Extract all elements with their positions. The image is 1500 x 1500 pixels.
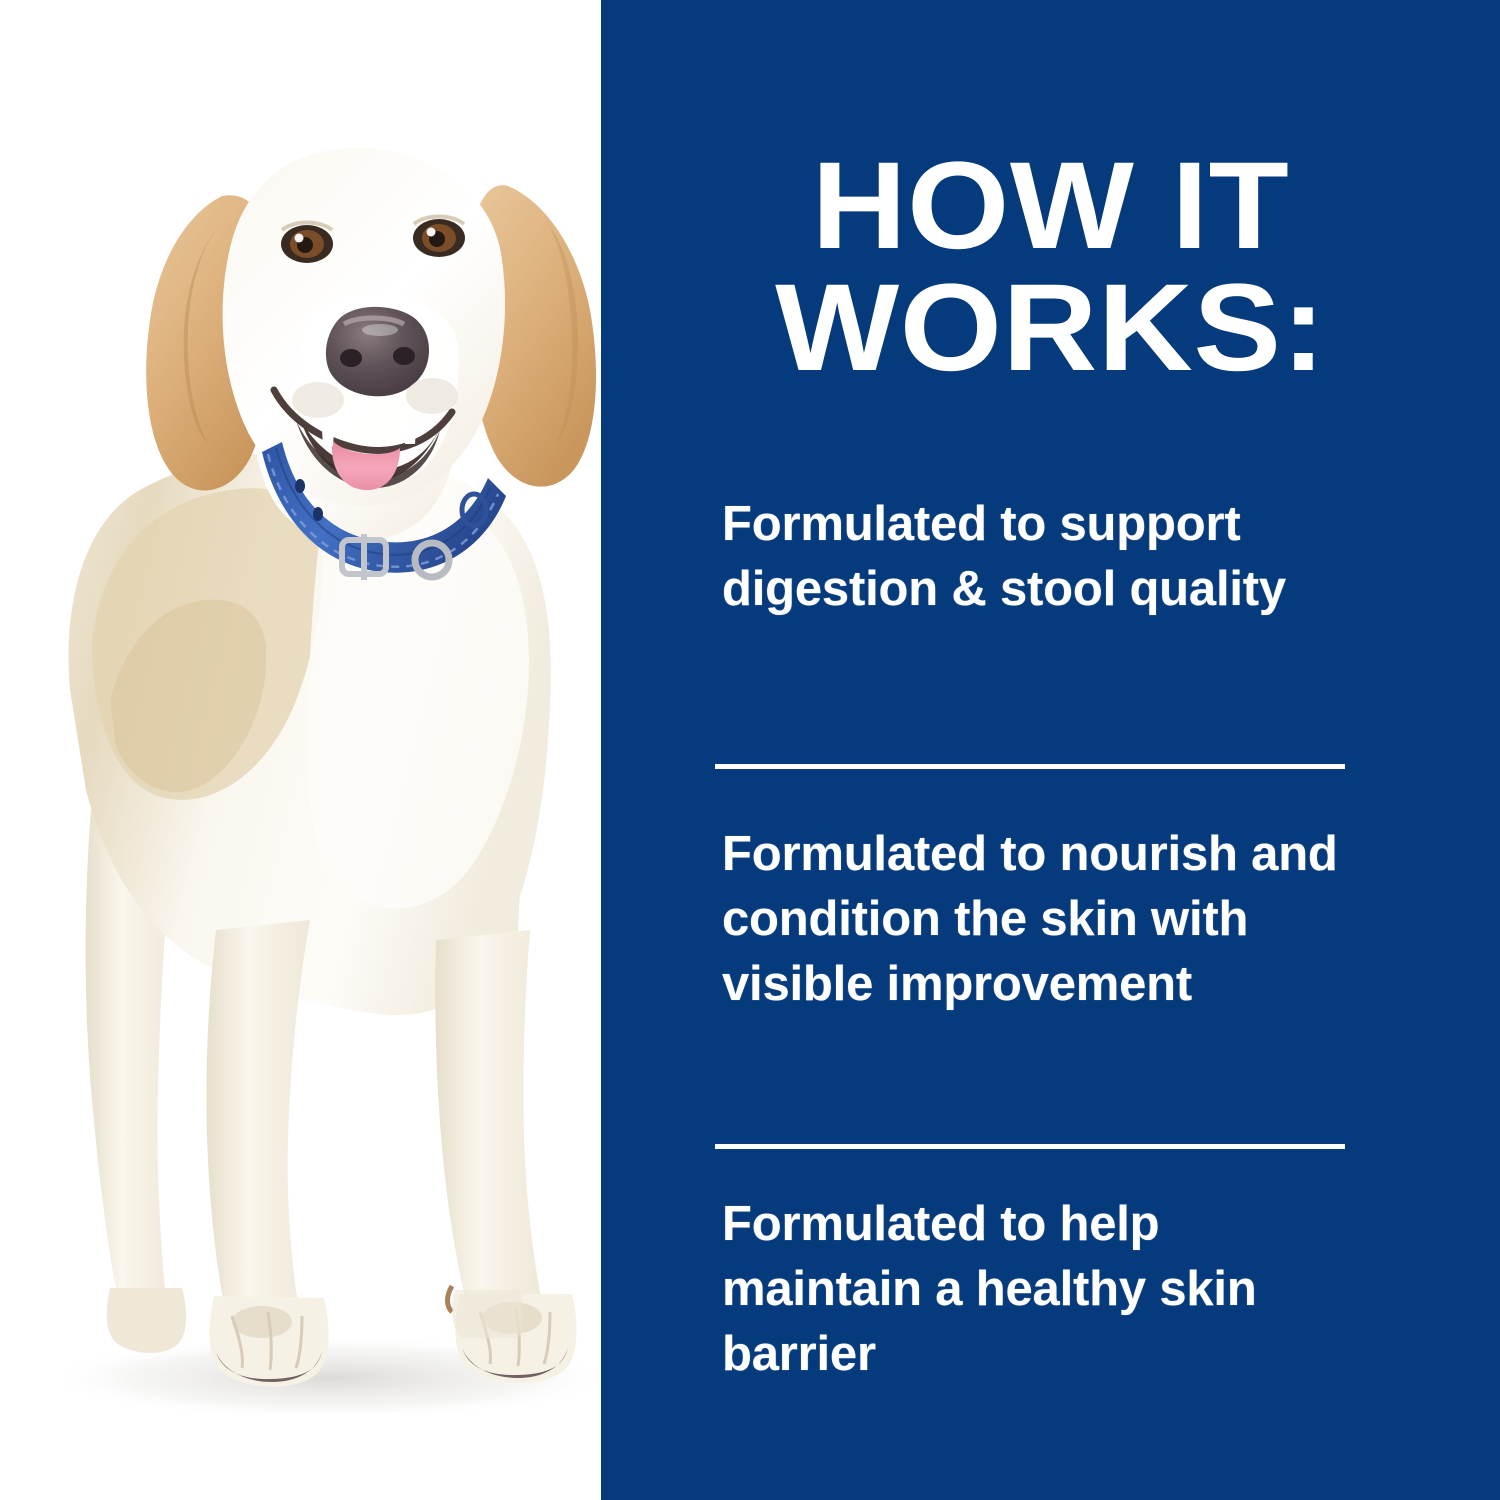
page-title-line-2: WORKS: [606,268,1495,390]
benefit-item-skin-barrier: Formulated to help maintain a healthy sk… [722,1192,1362,1387]
benefit-item-digestion: Formulated to support digestion & stool … [722,492,1362,622]
muzzle-shading-left [292,382,344,418]
paw-hind-left [107,1288,186,1353]
collar-hole-1 [295,479,305,493]
page-title: HOW IT WORKS: [601,146,1500,389]
labrador-retriever-photo [0,0,700,1500]
benefit-divider-2 [715,1144,1345,1149]
paw-hind-right [452,1290,523,1338]
page-title-line-1: HOW IT [606,146,1495,268]
collar-hole-2 [313,507,323,521]
dog-photo-panel [0,0,602,1500]
product-benefits-infographic: HOW IT WORKS: Formulated to support dige… [0,0,1500,1500]
benefits-list: Formulated to support digestion & stool … [601,492,1500,1452]
benefit-divider-1 [715,764,1345,769]
tooth-left [322,430,334,446]
muzzle-shading-right [406,378,458,414]
paw-front-left [209,1296,328,1387]
dog-nose [326,307,429,396]
tooth-right [404,428,416,444]
benefit-item-skin-nourish: Formulated to nourish and condition the … [722,822,1362,1017]
